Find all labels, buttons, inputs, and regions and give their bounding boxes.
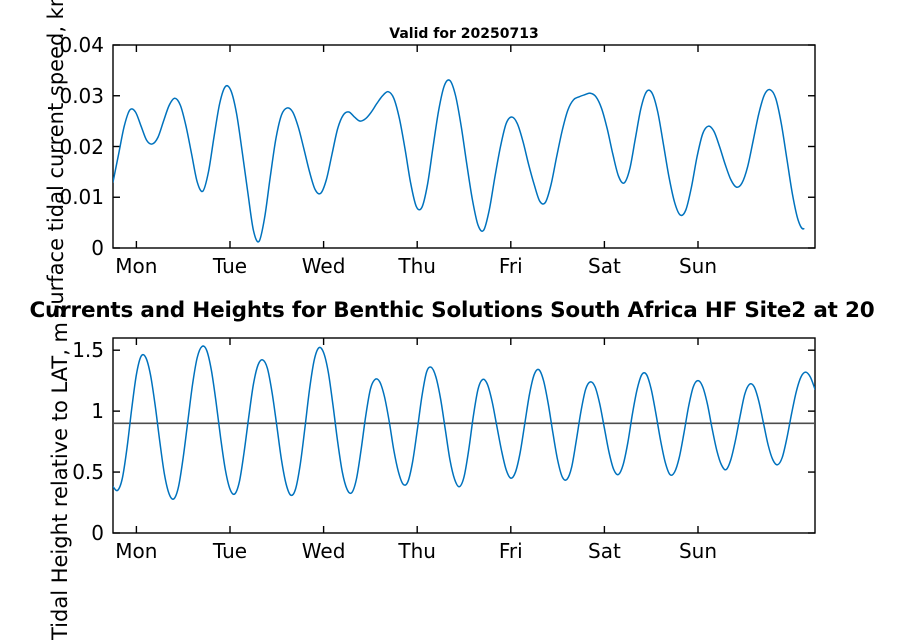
tidal-height-x-tick-label: Sat — [588, 539, 621, 563]
current-speed-x-tick-label: Sat — [588, 254, 621, 278]
tidal-height-x-tick-label: Thu — [398, 539, 436, 563]
tidal-height-x-tick-label: Mon — [115, 539, 157, 563]
tidal-height-plot-box — [113, 338, 815, 533]
tidal-height-x-tick-label: Tue — [213, 539, 247, 563]
current-speed-x-tick-label: Tue — [213, 254, 247, 278]
current-speed-chart-title: Valid for 20250713 — [113, 26, 815, 42]
tidal-height-y-tick-label: 0.5 — [0, 460, 104, 484]
tidal-height-axes-group — [113, 338, 815, 533]
current-speed-x-tick-label: Mon — [115, 254, 157, 278]
current-speed-x-tick-label: Fri — [499, 254, 523, 278]
tidal-height-x-tick-label: Wed — [302, 539, 346, 563]
figure-main-title: Currents and Heights for Benthic Solutio… — [0, 298, 900, 323]
current-speed-y-tick-label: 0.02 — [0, 135, 104, 159]
current-speed-y-tick-label: 0.03 — [0, 84, 104, 108]
current-speed-x-tick-label: Thu — [398, 254, 436, 278]
current-speed-y-tick-label: 0.01 — [0, 185, 104, 209]
current-speed-data-line — [113, 80, 804, 242]
current-speed-axes-group — [113, 45, 815, 248]
tidal-height-y-tick-label: 1.5 — [0, 338, 104, 362]
tidal-height-y-tick-label: 1 — [0, 399, 104, 423]
tidal-forecast-figure: Currents and Heights for Benthic Solutio… — [0, 0, 900, 600]
tidal-height-x-tick-label: Fri — [499, 539, 523, 563]
current-speed-x-tick-label: Sun — [679, 254, 717, 278]
tidal-height-y-tick-label: 0 — [0, 521, 104, 545]
current-speed-x-tick-label: Wed — [302, 254, 346, 278]
current-speed-y-tick-label: 0 — [0, 236, 104, 260]
tidal-height-x-tick-label: Sun — [679, 539, 717, 563]
current-speed-y-tick-label: 0.04 — [0, 33, 104, 57]
